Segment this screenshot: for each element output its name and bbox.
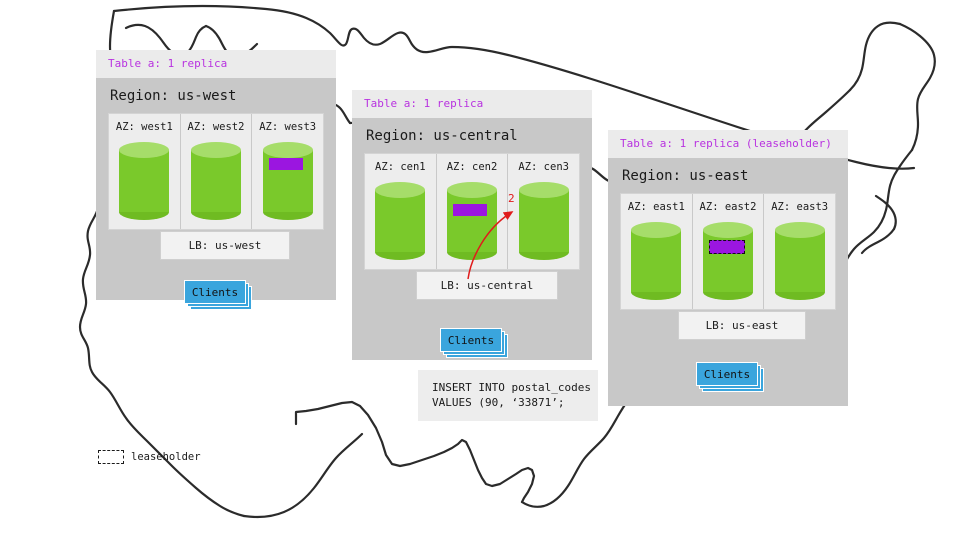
load-balancer-us-west[interactable]: LB: us-west bbox=[160, 231, 290, 260]
cylinder-body bbox=[631, 230, 681, 292]
db-cylinder-east2[interactable] bbox=[703, 222, 753, 299]
db-cylinder-east1[interactable] bbox=[631, 222, 681, 299]
cylinder-top bbox=[375, 182, 425, 198]
arrow-step-number: 2 bbox=[508, 192, 515, 205]
az-label-east1: AZ: east1 bbox=[628, 201, 685, 213]
clients-label: Clients bbox=[440, 328, 502, 352]
table-banner-us-east: Table a: 1 replica (leaseholder) bbox=[608, 130, 848, 158]
az-label-west3: AZ: west3 bbox=[259, 121, 316, 133]
clients-button-us-east[interactable]: Clients bbox=[696, 362, 758, 386]
az-row-us-west: AZ: west1 AZ: west2 AZ bbox=[108, 113, 324, 230]
az-cell-cen3[interactable]: AZ: cen3 bbox=[508, 154, 579, 269]
cylinder-body bbox=[119, 150, 169, 212]
replica-marker-west3[interactable] bbox=[269, 158, 303, 170]
db-cylinder-west1[interactable] bbox=[119, 142, 169, 219]
db-cylinder-west2[interactable] bbox=[191, 142, 241, 219]
diagram-canvas: Table a: 1 replica Region: us-west AZ: w… bbox=[0, 0, 960, 540]
clients-label: Clients bbox=[184, 280, 246, 304]
az-label-cen2: AZ: cen2 bbox=[447, 161, 498, 173]
sql-statement-note: INSERT INTO postal_codes VALUES (90, ‘33… bbox=[418, 370, 598, 421]
az-label-east2: AZ: east2 bbox=[700, 201, 757, 213]
cylinder-top bbox=[263, 142, 313, 158]
az-cell-east3[interactable]: AZ: east3 bbox=[764, 194, 835, 309]
az-label-west2: AZ: west2 bbox=[188, 121, 245, 133]
dashed-rectangle-icon bbox=[98, 450, 124, 464]
db-cylinder-cen1[interactable] bbox=[375, 182, 425, 259]
legend-label: leaseholder bbox=[131, 451, 201, 463]
az-label-cen3: AZ: cen3 bbox=[518, 161, 569, 173]
az-row-us-central: AZ: cen1 AZ: cen2 bbox=[364, 153, 580, 270]
region-panel-us-east: Table a: 1 replica (leaseholder) Region:… bbox=[608, 130, 848, 406]
az-cell-cen2[interactable]: AZ: cen2 bbox=[437, 154, 509, 269]
table-banner-us-central: Table a: 1 replica bbox=[352, 90, 592, 118]
cylinder-top bbox=[119, 142, 169, 158]
replica-marker-cen2[interactable] bbox=[453, 204, 487, 216]
db-cylinder-cen3[interactable] bbox=[519, 182, 569, 259]
db-cylinder-east3[interactable] bbox=[775, 222, 825, 299]
az-cell-west2[interactable]: AZ: west2 bbox=[181, 114, 253, 229]
region-body-us-west: Region: us-west AZ: west1 AZ: west2 bbox=[96, 78, 336, 300]
region-body-us-central: Region: us-central AZ: cen1 AZ: cen2 bbox=[352, 118, 592, 360]
cylinder-body bbox=[519, 190, 569, 252]
clients-button-us-west[interactable]: Clients bbox=[184, 280, 246, 304]
cylinder-body bbox=[191, 150, 241, 212]
load-balancer-us-east[interactable]: LB: us-east bbox=[678, 311, 806, 340]
cylinder-top bbox=[775, 222, 825, 238]
az-cell-east1[interactable]: AZ: east1 bbox=[621, 194, 693, 309]
cylinder-top bbox=[703, 222, 753, 238]
region-title-us-east: Region: us-east bbox=[608, 158, 848, 193]
region-panel-us-central: Table a: 1 replica Region: us-central AZ… bbox=[352, 90, 592, 360]
az-row-us-east: AZ: east1 AZ: east2 bbox=[620, 193, 836, 310]
db-cylinder-cen2[interactable] bbox=[447, 182, 497, 259]
clients-label: Clients bbox=[696, 362, 758, 386]
az-cell-west1[interactable]: AZ: west1 bbox=[109, 114, 181, 229]
replica-marker-east2-leaseholder[interactable] bbox=[709, 240, 745, 254]
db-cylinder-west3[interactable] bbox=[263, 142, 313, 219]
clients-button-us-central[interactable]: Clients bbox=[440, 328, 502, 352]
cylinder-body bbox=[375, 190, 425, 252]
cylinder-top bbox=[447, 182, 497, 198]
az-cell-east2[interactable]: AZ: east2 bbox=[693, 194, 765, 309]
load-balancer-us-central[interactable]: LB: us-central bbox=[416, 271, 558, 300]
region-panel-us-west: Table a: 1 replica Region: us-west AZ: w… bbox=[96, 50, 336, 300]
region-title-us-central: Region: us-central bbox=[352, 118, 592, 153]
az-label-east3: AZ: east3 bbox=[771, 201, 828, 213]
cylinder-body bbox=[775, 230, 825, 292]
region-title-us-west: Region: us-west bbox=[96, 78, 336, 113]
cylinder-body bbox=[447, 190, 497, 252]
cylinder-top bbox=[631, 222, 681, 238]
az-cell-cen1[interactable]: AZ: cen1 bbox=[365, 154, 437, 269]
legend-leaseholder: leaseholder bbox=[98, 450, 201, 464]
az-label-cen1: AZ: cen1 bbox=[375, 161, 426, 173]
az-label-west1: AZ: west1 bbox=[116, 121, 173, 133]
cylinder-top bbox=[519, 182, 569, 198]
cylinder-top bbox=[191, 142, 241, 158]
table-banner-us-west: Table a: 1 replica bbox=[96, 50, 336, 78]
az-cell-west3[interactable]: AZ: west3 bbox=[252, 114, 323, 229]
